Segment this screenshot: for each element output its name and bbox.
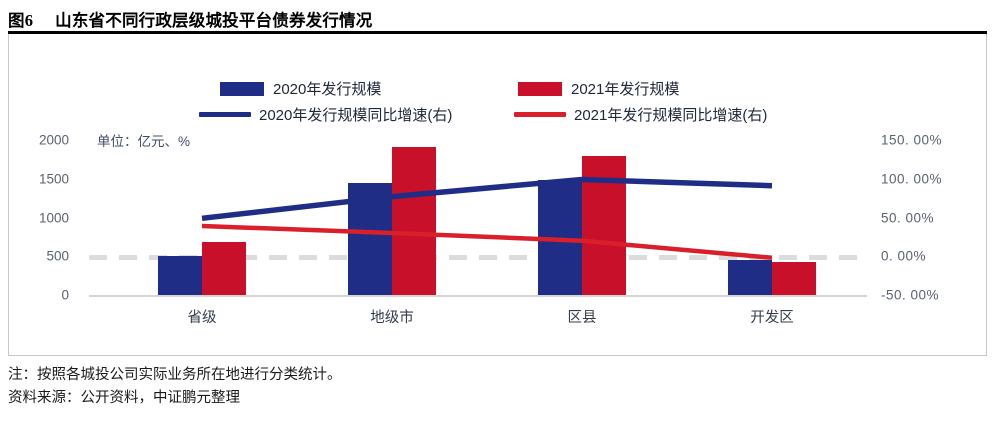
x-axis-label-区县: 区县 xyxy=(568,306,597,327)
footnotes: 注：按照各城投公司实际业务所在地进行分类统计。 资料来源：公开资料，中证鹏元整理 xyxy=(8,364,987,411)
figure-number: 图6 xyxy=(8,7,33,31)
figure-title-text: 山东省不同行政层级城投平台债券发行情况 xyxy=(55,7,372,31)
x-axis-label-省级: 省级 xyxy=(188,306,217,327)
plot-area: 单位：亿元、% 2000 1500 1000 500 0 150. 00% 10… xyxy=(9,34,987,356)
trend-lines xyxy=(9,34,987,356)
line-2020-growth xyxy=(202,180,772,219)
chart-container: 2020年发行规模 2021年发行规模 2020年发行规模同比增速(右) 202… xyxy=(8,34,987,356)
footnote-note: 注：按照各城投公司实际业务所在地进行分类统计。 xyxy=(8,364,987,387)
line-2021-growth xyxy=(202,226,772,258)
figure-title: 图6 山东省不同行政层级城投平台债券发行情况 xyxy=(0,6,995,32)
x-axis-label-地级市: 地级市 xyxy=(370,306,414,327)
footnote-source: 资料来源：公开资料，中证鹏元整理 xyxy=(8,387,987,410)
x-axis-label-开发区: 开发区 xyxy=(750,306,794,327)
